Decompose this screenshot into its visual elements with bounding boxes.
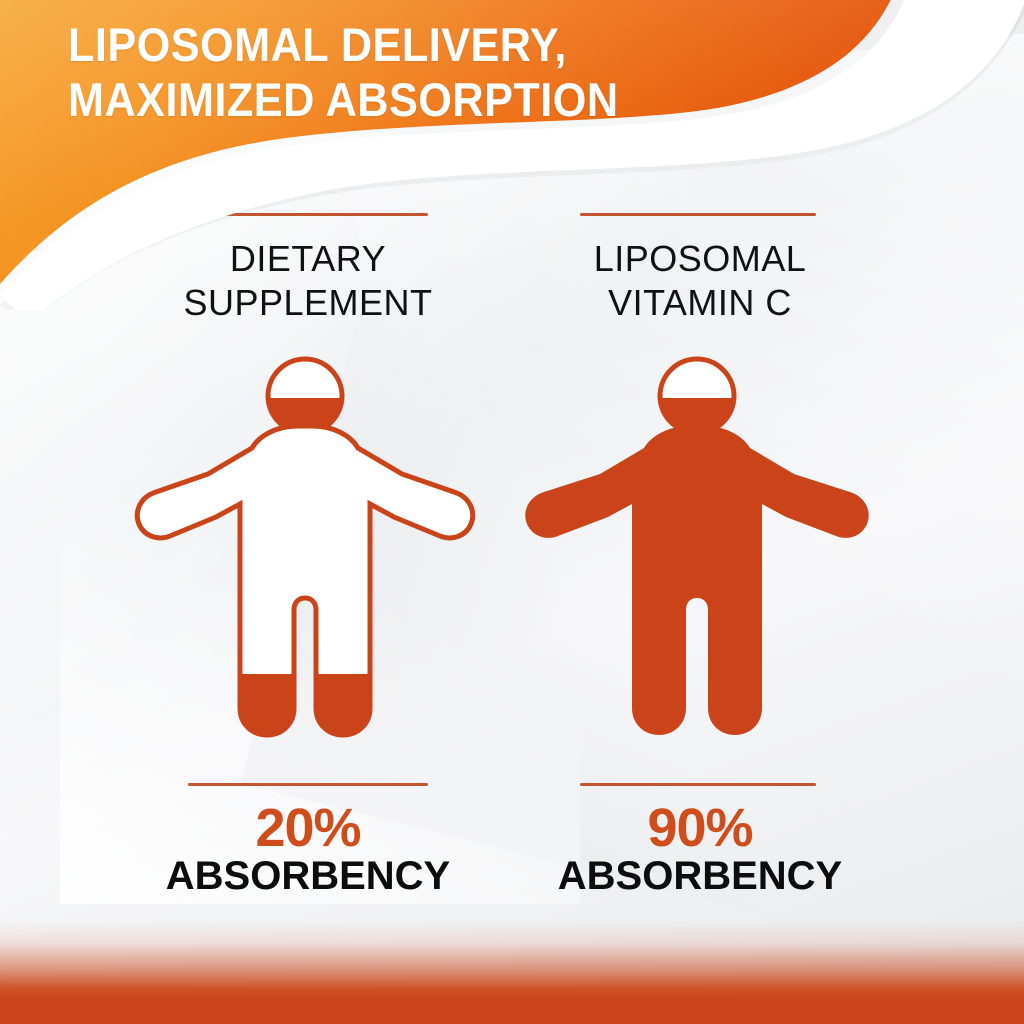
page-title: LIPOSOMAL DELIVERY, MAXIMIZED ABSORPTION bbox=[68, 17, 712, 127]
divider-bottom bbox=[580, 783, 816, 786]
person-filled-icon bbox=[490, 352, 910, 770]
person-outline-icon bbox=[98, 352, 518, 770]
percent-value-dietary: 20% bbox=[98, 800, 518, 856]
person-body-fill-90 bbox=[525, 426, 868, 735]
absorbency-label-liposomal: ABSORBENCY bbox=[490, 855, 910, 897]
bottom-accent-bar bbox=[0, 920, 1024, 1024]
absorbency-label-dietary: ABSORBENCY bbox=[98, 855, 518, 897]
header-banner: LIPOSOMAL DELIVERY, MAXIMIZED ABSORPTION bbox=[0, 0, 1024, 310]
divider-bottom bbox=[188, 783, 428, 786]
person-body-empty bbox=[137, 426, 472, 735]
percent-value-liposomal: 90% bbox=[490, 800, 910, 856]
person-body-fill-20 bbox=[102, 674, 518, 744]
infographic-canvas: LIPOSOMAL DELIVERY, MAXIMIZED ABSORPTION… bbox=[0, 0, 1024, 1024]
